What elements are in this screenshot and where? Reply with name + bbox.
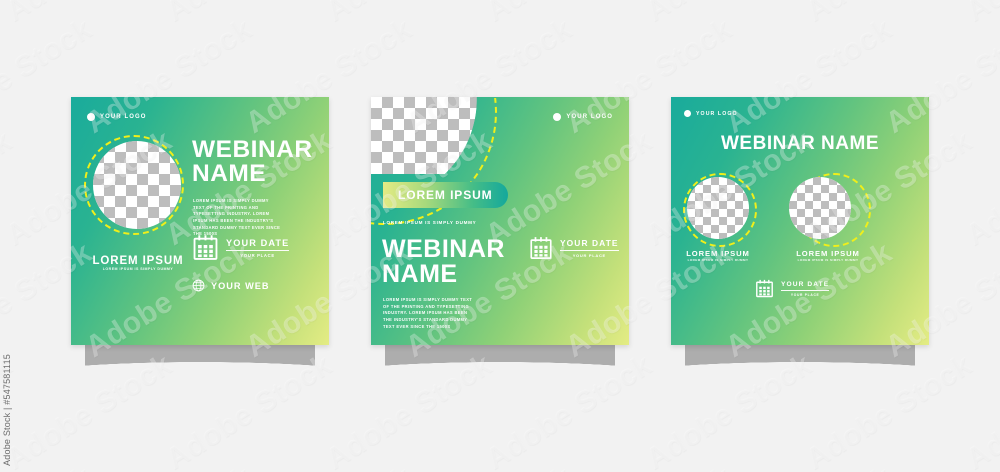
card-surface: YOUR LOGO WEBINAR NAME LOREM IPSUM LOREM… <box>671 97 929 345</box>
logo-row: YOUR LOGO <box>553 113 613 121</box>
template-gallery: YOUR LOGO WEBINAR NAME LOREM IPSUM IS SI… <box>0 0 1000 472</box>
lorem-block: LOREM IPSUM LOREM IPSUM IS SIMPLY DUMMY <box>90 255 186 271</box>
photo-placeholder[interactable] <box>93 141 181 229</box>
photo-placeholder[interactable] <box>789 177 851 239</box>
webinar-card-1[interactable]: YOUR LOGO WEBINAR NAME LOREM IPSUM IS SI… <box>71 97 329 345</box>
place-label: YOUR PLACE <box>226 251 289 258</box>
pill-sub: LOREM IPSUM IS SIMPLY DUMMY <box>383 220 476 225</box>
date-block: YOUR DATE YOUR PLACE <box>529 236 619 260</box>
webinar-card-3[interactable]: YOUR LOGO WEBINAR NAME LOREM IPSUM LOREM… <box>671 97 929 345</box>
body-text: LOREM IPSUM IS SIMPLY DUMMY TEXT OF THE … <box>383 297 475 330</box>
lorem-pill: LOREM IPSUM <box>383 182 508 208</box>
photo-placeholder[interactable] <box>687 177 749 239</box>
web-row[interactable]: YOUR WEB <box>192 279 270 292</box>
ribbon-tail <box>85 345 315 375</box>
pill-label: LOREM IPSUM <box>398 188 493 202</box>
page-title: WEBINAR NAME <box>192 138 313 186</box>
checkerboard-pattern <box>93 141 181 229</box>
date-label: YOUR DATE <box>226 238 289 251</box>
calendar-icon <box>755 279 774 298</box>
place-label: YOUR PLACE <box>560 251 619 258</box>
date-block: YOUR DATE YOUR PLACE <box>755 279 829 298</box>
card-surface: YOUR LOGO WEBINAR NAME LOREM IPSUM IS SI… <box>71 97 329 345</box>
title-line-1: WEBINAR <box>382 237 505 262</box>
lorem-sub: LOREM IPSUM IS SIMPLY DUMMY <box>787 258 869 262</box>
lorem-heading: LOREM IPSUM <box>677 249 759 258</box>
date-block: YOUR DATE YOUR PLACE <box>192 234 289 261</box>
date-label: YOUR DATE <box>560 238 619 251</box>
web-label: YOUR WEB <box>211 281 270 291</box>
card-surface: YOUR LOGO LOREM IPSUM LOREM IPSUM IS SIM… <box>371 97 629 345</box>
logo-row: YOUR LOGO <box>684 110 738 117</box>
date-lines: YOUR DATE YOUR PLACE <box>560 238 619 258</box>
date-label: YOUR DATE <box>781 281 829 291</box>
lorem-heading: LOREM IPSUM <box>90 255 186 267</box>
calendar-icon <box>529 236 553 260</box>
date-lines: YOUR DATE YOUR PLACE <box>226 238 289 258</box>
ribbon-tail <box>385 345 615 375</box>
checkerboard-pattern <box>687 177 749 239</box>
page-title: WEBINAR NAME <box>671 135 929 154</box>
circle-dot-icon <box>684 110 691 117</box>
ribbon-tail <box>685 345 915 375</box>
logo-row: YOUR LOGO <box>87 113 147 121</box>
circle-dot-icon <box>87 113 95 121</box>
logo-label: YOUR LOGO <box>100 114 147 120</box>
circle-dot-icon <box>553 113 561 121</box>
calendar-icon <box>192 234 219 261</box>
stock-id-label: Adobe Stock | #547581115 <box>2 354 12 466</box>
place-label: YOUR PLACE <box>781 291 829 297</box>
lorem-heading: LOREM IPSUM <box>787 249 869 258</box>
page-title: WEBINAR NAME <box>382 237 505 286</box>
lorem-block: LOREM IPSUM LOREM IPSUM IS SIMPLY DUMMY <box>677 249 759 262</box>
lorem-sub: LOREM IPSUM IS SIMPLY DUMMY <box>677 258 759 262</box>
logo-label: YOUR LOGO <box>696 111 738 117</box>
body-text: LOREM IPSUM IS SIMPLY DUMMY TEXT OF THE … <box>193 198 281 238</box>
date-lines: YOUR DATE YOUR PLACE <box>781 281 829 297</box>
logo-label: YOUR LOGO <box>566 114 613 120</box>
webinar-card-2[interactable]: YOUR LOGO LOREM IPSUM LOREM IPSUM IS SIM… <box>371 97 629 345</box>
title-line-2: NAME <box>382 262 505 287</box>
lorem-block: LOREM IPSUM LOREM IPSUM IS SIMPLY DUMMY <box>787 249 869 262</box>
lorem-sub: LOREM IPSUM IS SIMPLY DUMMY <box>90 267 186 271</box>
checkerboard-pattern <box>789 177 851 239</box>
title-line-1: WEBINAR <box>192 138 313 162</box>
title-line-2: NAME <box>192 162 313 186</box>
globe-icon <box>192 279 205 292</box>
